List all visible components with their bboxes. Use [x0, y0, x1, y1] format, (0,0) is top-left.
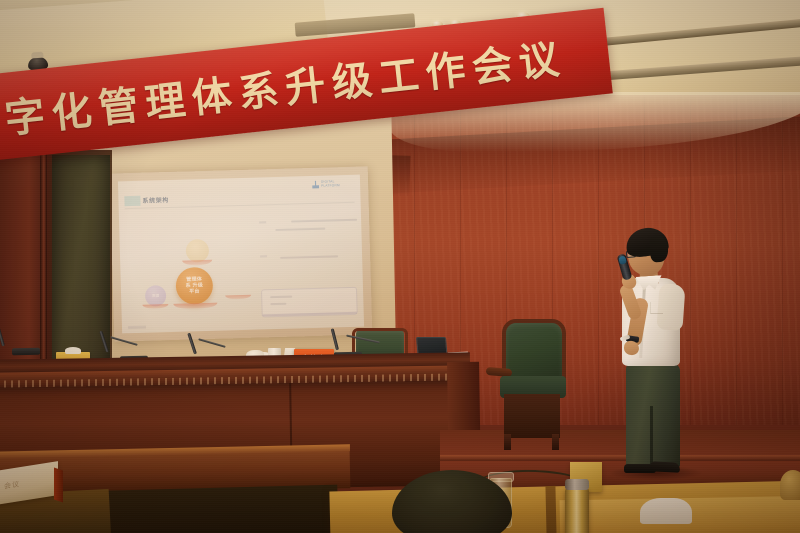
stage-armchair — [492, 322, 570, 450]
slide-circle-center-label: 管理体系 升级平台 — [185, 276, 204, 296]
slide-title: 系统架构 — [142, 195, 169, 205]
presenter — [606, 228, 706, 473]
foreground-table-gap — [545, 486, 556, 533]
slide-text-line — [275, 228, 325, 231]
slide-circle-left-label: 数据 — [152, 293, 159, 298]
logo-mark-icon — [312, 180, 319, 188]
slide-callout-box — [261, 287, 358, 318]
presenter-leg-split — [650, 406, 653, 470]
armchair-leg — [552, 434, 559, 450]
name-card-spine — [54, 468, 63, 503]
logo-text: DIGITAL PLATFORM — [321, 180, 354, 188]
thermos-cap — [565, 479, 589, 490]
slide-arc — [225, 295, 251, 300]
thermos-bottle — [565, 488, 589, 533]
slide-bullet — [259, 221, 266, 223]
microphone-base — [12, 348, 40, 355]
slide-arc — [142, 304, 168, 309]
foreground-desk-shadow — [77, 485, 338, 533]
slide-logo: DIGITAL PLATFORM — [312, 179, 354, 189]
slide-title-marker — [124, 196, 140, 206]
slide-circle-center: 管理体系 升级平台 — [175, 267, 213, 305]
projected-slide: 系统架构 DIGITAL PLATFORM 管理体系 升级平台 数据 — [118, 175, 364, 334]
folded-name-card: 会议 — [0, 466, 70, 514]
slide-text-line — [291, 219, 357, 223]
slide-callout-bar — [263, 311, 357, 316]
slide-text-line — [270, 303, 286, 305]
presenter-shoe — [650, 461, 680, 473]
slide-arc — [173, 303, 217, 309]
presenter-shirt-pocket — [650, 302, 663, 314]
slide-text-line — [270, 296, 292, 299]
name-card-face: 会议 — [0, 461, 58, 505]
armchair-skirt — [504, 394, 560, 438]
slide-bullet — [260, 255, 267, 257]
conference-photo: 系统架构 DIGITAL PLATFORM 管理体系 升级平台 数据 — [0, 0, 800, 533]
name-card-text: 会议 — [4, 479, 20, 492]
armchair-leg — [504, 434, 511, 450]
slide-text-line — [280, 255, 338, 259]
slide-arc — [182, 260, 212, 266]
pillar-edge-trim — [40, 150, 47, 370]
foreground-glass-right — [780, 470, 800, 500]
tissue-pack — [640, 498, 692, 524]
presenter-trousers — [626, 363, 680, 468]
projection-screen: 系统架构 DIGITAL PLATFORM 管理体系 升级平台 数据 — [110, 166, 373, 341]
slide-footer-mark — [128, 326, 146, 330]
